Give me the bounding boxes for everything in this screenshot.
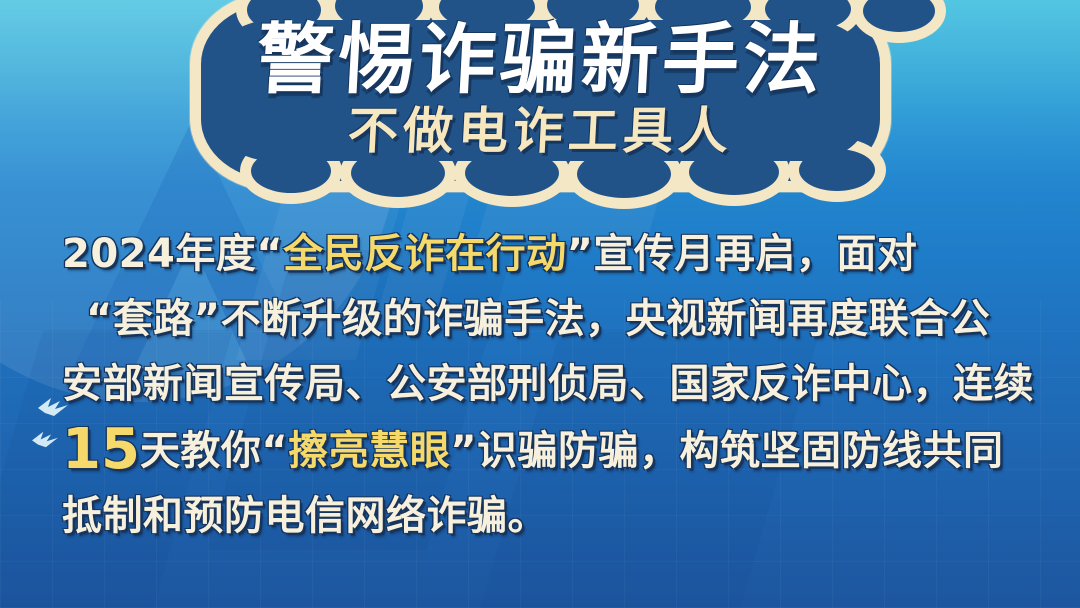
- body-text-segment: “套路”不断升级的诈骗手法，央视新闻再度联合公: [86, 296, 990, 342]
- title-block: 警惕诈骗新手法 不做电诈工具人: [0, 14, 1080, 167]
- poster-body-copy: 2024年度“全民反诈在行动”宣传月再启，面对 “套路”不断升级的诈骗手法，央视…: [46, 222, 1040, 549]
- body-text-segment: 安部新闻宣传局、公安部刑侦局、国家反诈中心，连续: [62, 361, 1034, 407]
- body-text-segment: ”识骗防骗，构筑坚固防线共同: [450, 428, 1003, 474]
- title-blob: 警惕诈骗新手法 不做电诈工具人: [227, 14, 854, 167]
- body-line: 抵制和预防电信网络诈骗。: [46, 484, 1040, 549]
- body-text-segment: 天教你“: [140, 428, 288, 474]
- body-line: 安部新闻宣传局、公安部刑侦局、国家反诈中心，连续: [46, 352, 1040, 417]
- body-text-segment: 2024年度“: [62, 231, 283, 277]
- body-text-segment: 抵制和预防电信网络诈骗。: [62, 493, 548, 539]
- body-text-segment: 15: [62, 417, 140, 482]
- body-text-segment: 擦亮慧眼: [288, 428, 450, 474]
- body-line: “套路”不断升级的诈骗手法，央视新闻再度联合公: [46, 287, 1040, 352]
- poster-subheadline: 不做电诈工具人: [255, 105, 825, 158]
- blob-bump: [863, 0, 935, 32]
- body-line: 2024年度“全民反诈在行动”宣传月再启，面对: [46, 222, 1040, 287]
- anti-fraud-poster: 警惕诈骗新手法 不做电诈工具人 2024年度“全民反诈在行动”宣传月再启，面对 …: [0, 0, 1080, 608]
- poster-headline: 警惕诈骗新手法: [254, 22, 825, 101]
- body-text-segment: 全民反诈在行动: [283, 231, 567, 277]
- body-line: 15天教你“擦亮慧眼”识骗防骗，构筑坚固防线共同: [46, 417, 1040, 484]
- body-text-segment: ”宣传月再启，面对: [567, 231, 918, 277]
